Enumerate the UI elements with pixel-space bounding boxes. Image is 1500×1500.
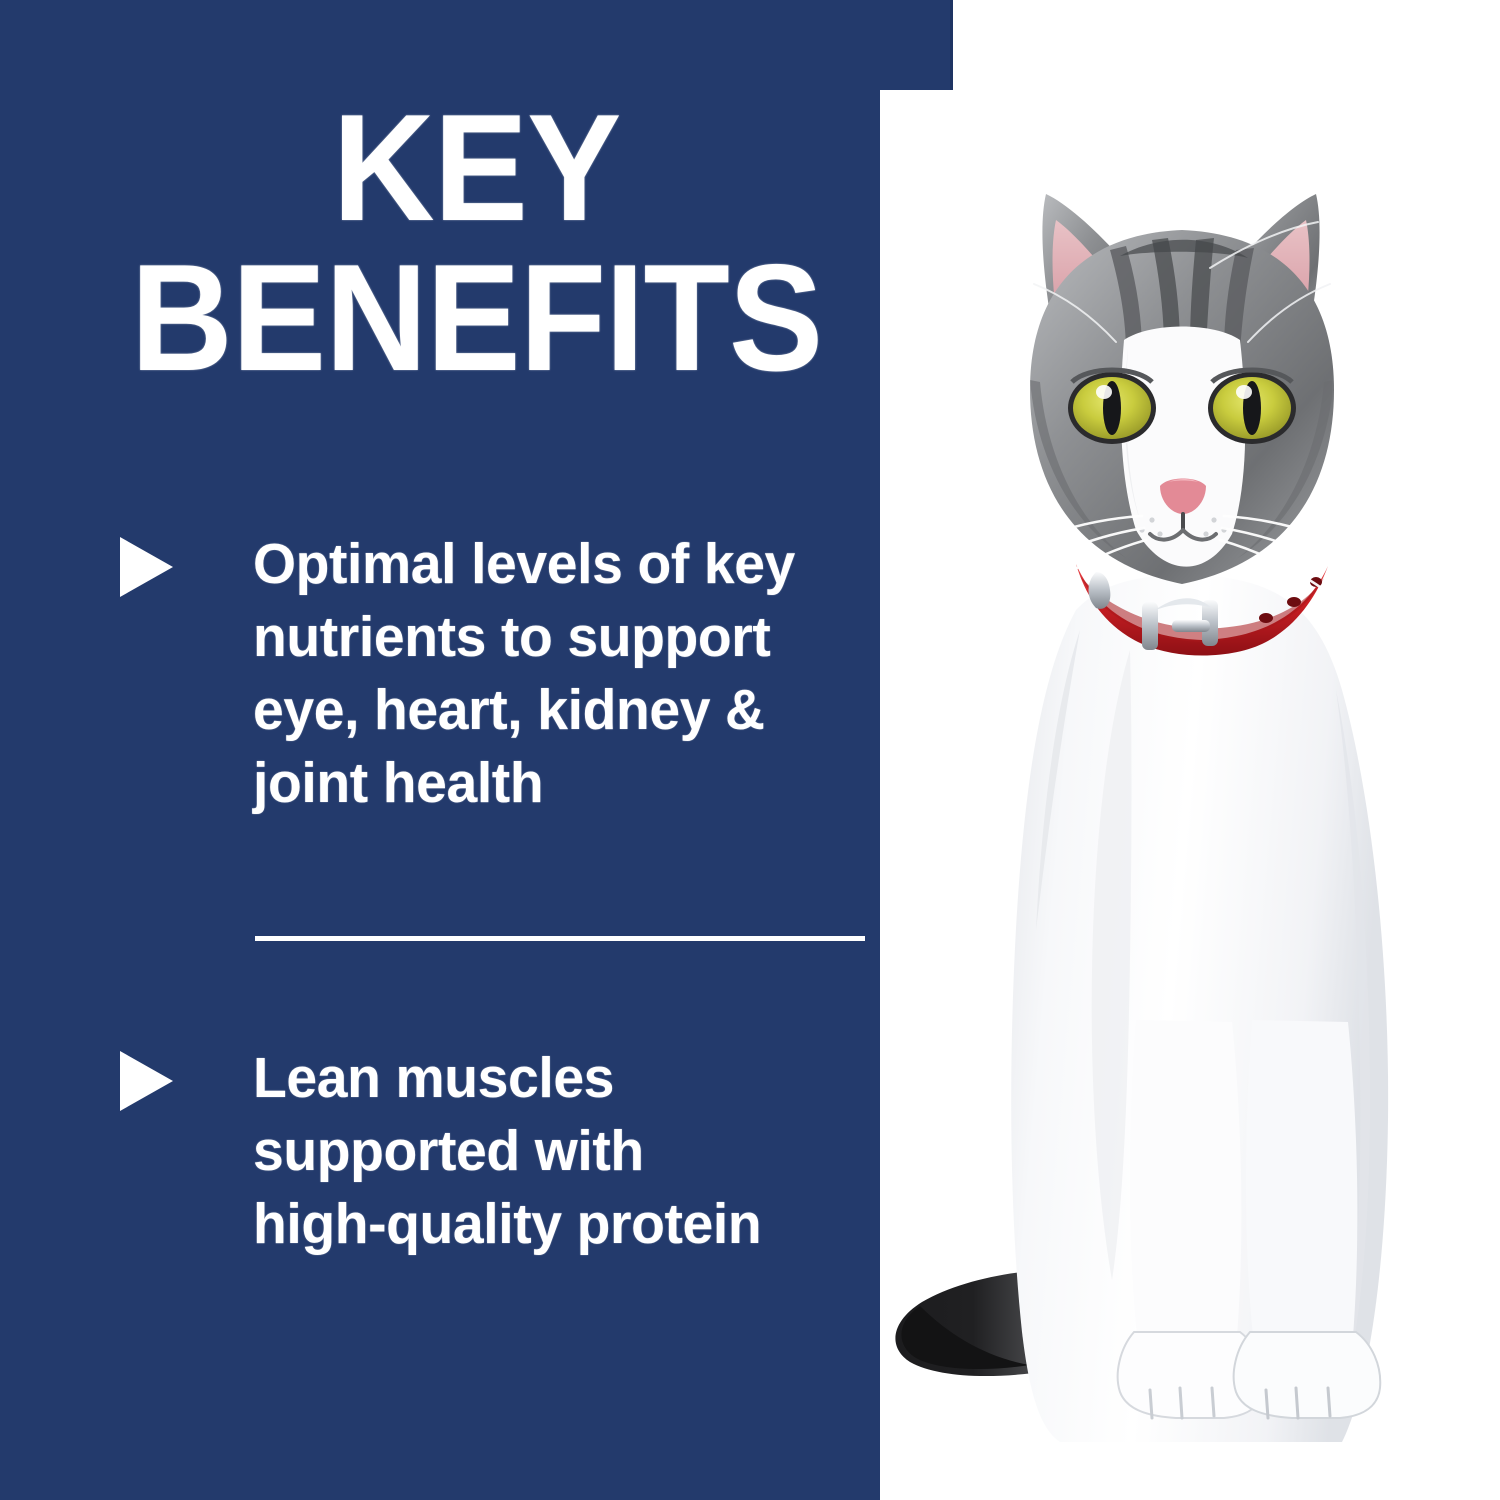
page-title-line-1: KEY (33, 96, 919, 240)
benefit-2-text: Lean muscles supported with high-quality… (253, 1042, 761, 1261)
play-triangle-icon (120, 537, 173, 597)
play-triangle-icon (120, 1051, 173, 1111)
benefit-1-line-2: nutrients to support (253, 601, 795, 674)
benefit-2-line-2: supported with (253, 1115, 761, 1188)
benefit-1-text: Optimal levels of key nutrients to suppo… (253, 528, 795, 820)
benefit-item-1: Optimal levels of key nutrients to suppo… (120, 528, 910, 820)
benefit-item-2: Lean muscles supported with high-quality… (120, 1042, 910, 1261)
page-title: KEY BENEFITS (33, 96, 919, 391)
benefit-1-line-3: eye, heart, kidney & (253, 674, 795, 747)
page-title-line-2: BENEFITS (33, 246, 919, 390)
benefit-1-line-1: Optimal levels of key (253, 528, 795, 601)
cat-photo (880, 90, 1500, 1500)
benefit-1-line-4: joint health (253, 747, 795, 820)
key-benefits-poster: KEY BENEFITS Optimal levels of key nutri… (0, 0, 1500, 1500)
benefit-2-line-1: Lean muscles (253, 1042, 761, 1115)
cat-front-legs (1118, 1020, 1381, 1418)
section-divider (255, 936, 865, 941)
benefit-2-line-3: high-quality protein (253, 1188, 761, 1261)
